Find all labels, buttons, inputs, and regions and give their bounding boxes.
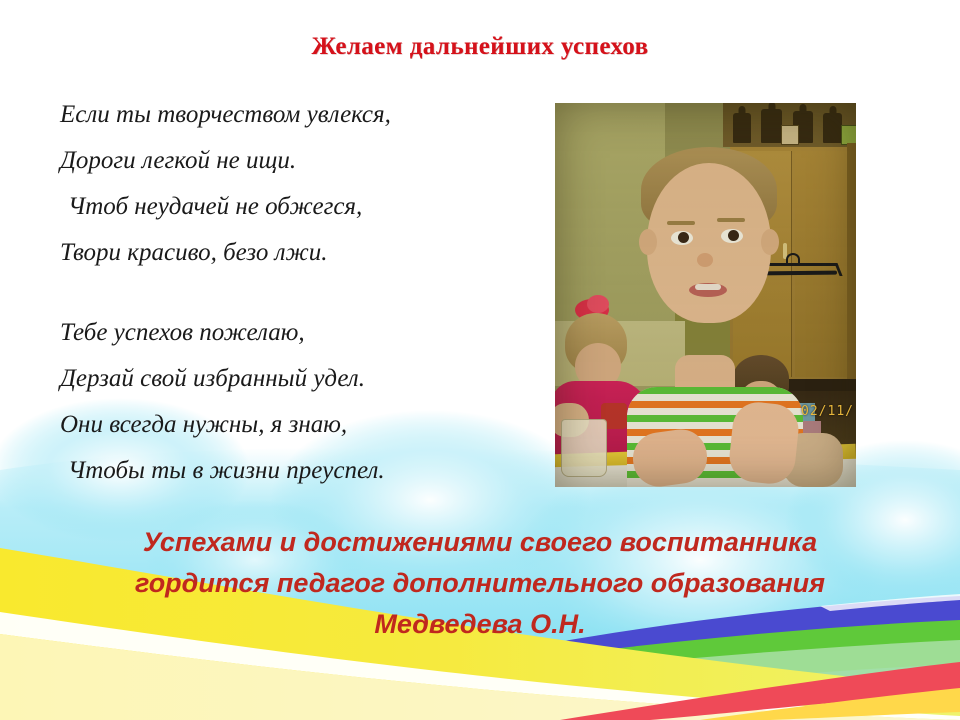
poem-line: Тебе успехов пожелаю, [60, 310, 530, 356]
caption-line: Успехами и достижениями своего воспитанн… [80, 522, 880, 563]
poem-line: Дороги легкой не ищи. [60, 138, 530, 184]
classroom-photo: 02/11/ [555, 103, 856, 487]
caption-line: Медведева О.Н. [80, 604, 880, 645]
poem-line: Дерзай свой избранный удел. [60, 356, 530, 402]
credit-caption: Успехами и достижениями своего воспитанн… [80, 522, 880, 645]
page-title: Желаем дальнейших успехов [0, 33, 960, 61]
photo-vignette [555, 103, 856, 487]
poem-line: Они всегда нужны, я знаю, [60, 402, 530, 448]
poem-line: Чтобы ты в жизни преуспел. [60, 448, 530, 494]
poem-line: Твори красиво, безо лжи. [60, 230, 530, 276]
poem-line: Если ты творчеством увлекся, [60, 92, 530, 138]
photo-timestamp: 02/11/ [801, 404, 854, 419]
poem-block: Если ты творчеством увлекся, Дороги легк… [60, 92, 530, 494]
poem-line: Чтоб неудачей не обжегся, [60, 184, 530, 230]
slide-canvas: Желаем дальнейших успехов Если ты творче… [0, 0, 960, 720]
caption-line: гордится педагог дополнительного образов… [80, 563, 880, 604]
stanza-separator [60, 276, 530, 310]
